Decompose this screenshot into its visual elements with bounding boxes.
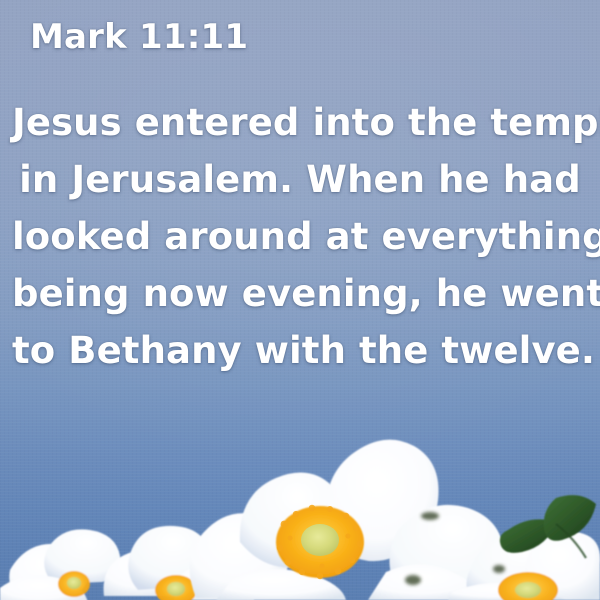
verse-line-3: looked around at everything, it <box>12 208 588 265</box>
flower-center-main <box>190 440 504 600</box>
flower-left <box>0 529 121 600</box>
verse-text: Jesus entered into the temple in Jerusal… <box>12 94 588 379</box>
flower-photo-region <box>0 420 600 600</box>
verse-line-2: in Jerusalem. When he had <box>12 151 588 208</box>
verse-line-1: Jesus entered into the temple <box>12 94 588 151</box>
leaf-right <box>544 495 596 541</box>
verse-card: Mark 11:11 Jesus entered into the temple… <box>0 0 600 600</box>
verse-reference: Mark 11:11 <box>30 17 248 57</box>
verse-line-5: to Bethany with the twelve. <box>12 322 588 379</box>
verse-line-4: being now evening, he went out <box>12 265 588 322</box>
